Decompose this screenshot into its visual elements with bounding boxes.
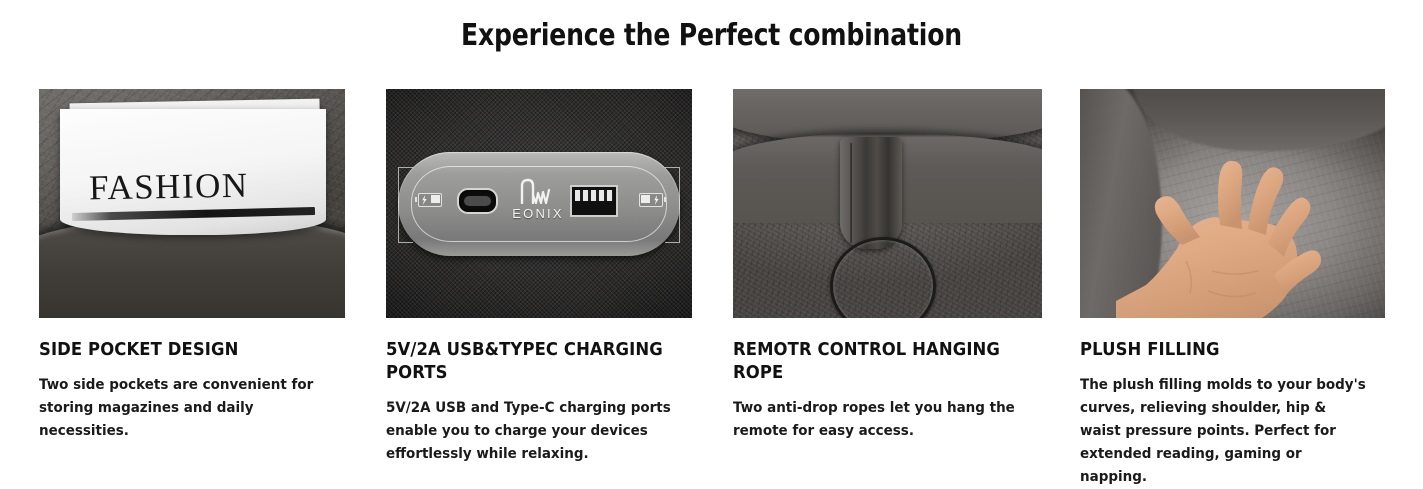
battery-charging-icon-left xyxy=(418,193,442,207)
hand-illustration xyxy=(1116,151,1326,318)
hanging-rope-photo xyxy=(733,89,1042,318)
brand-name-text: EONIX xyxy=(508,206,568,221)
feature-body: 5V/2A USB and Type-C charging ports enab… xyxy=(386,397,677,466)
side-pocket-photo: FASHION xyxy=(39,89,345,318)
battery-charging-icon-right xyxy=(639,193,663,207)
battery-fill-left xyxy=(431,195,440,203)
plate-notch-right xyxy=(665,167,680,243)
hanging-strap-shape xyxy=(840,137,902,249)
feature-card-hanging-rope: REMOTR CONTROL HANGING ROPE Two anti-dro… xyxy=(733,89,1039,489)
feature-title: PLUSH FILLING xyxy=(1080,339,1368,362)
usb-type-c-port xyxy=(457,188,498,214)
feature-title: REMOTR CONTROL HANGING ROPE xyxy=(733,339,1021,385)
feature-grid: FASHION SIDE POCKET DESIGN Two side pock… xyxy=(39,89,1385,489)
charging-port-plate: EONIX xyxy=(398,152,680,256)
magazine-front-cover: FASHION xyxy=(60,109,326,235)
feature-module: Experience the Perfect combination FASHI… xyxy=(0,0,1423,479)
plate-notch-left xyxy=(398,167,413,243)
feature-card-plush-filling: PLUSH FILLING The plush filling molds to… xyxy=(1080,89,1386,489)
plush-filling-photo xyxy=(1080,89,1385,318)
feature-title: SIDE POCKET DESIGN xyxy=(39,339,327,362)
feature-title: 5V/2A USB&TYPEC CHARGING PORTS xyxy=(386,339,674,385)
feature-body: Two anti-drop ropes let you hang the rem… xyxy=(733,397,1024,443)
charging-port-photo: EONIX xyxy=(386,89,692,318)
lightning-bolt-icon-left xyxy=(421,195,428,205)
feature-body: Two side pockets are convenient for stor… xyxy=(39,374,330,443)
lightning-bolt-icon-right xyxy=(653,195,660,205)
battery-fill-right xyxy=(641,195,650,203)
magazine-cover-rule xyxy=(72,207,315,221)
magazine-cover-title: FASHION xyxy=(89,166,249,209)
feature-body: The plush filling molds to your body's c… xyxy=(1080,374,1371,489)
remote-cord-loop xyxy=(830,237,936,318)
fabric-fold-top xyxy=(1134,89,1385,151)
page-title: Experience the Perfect combination xyxy=(50,18,1373,53)
eonix-logo-icon xyxy=(516,178,554,204)
feature-card-side-pocket: FASHION SIDE POCKET DESIGN Two side pock… xyxy=(39,89,345,489)
feature-card-charging-ports: EONIX 5V/2A USB&TYPEC CHARGING PORTS 5V/… xyxy=(386,89,692,489)
usb-a-port xyxy=(570,185,618,217)
